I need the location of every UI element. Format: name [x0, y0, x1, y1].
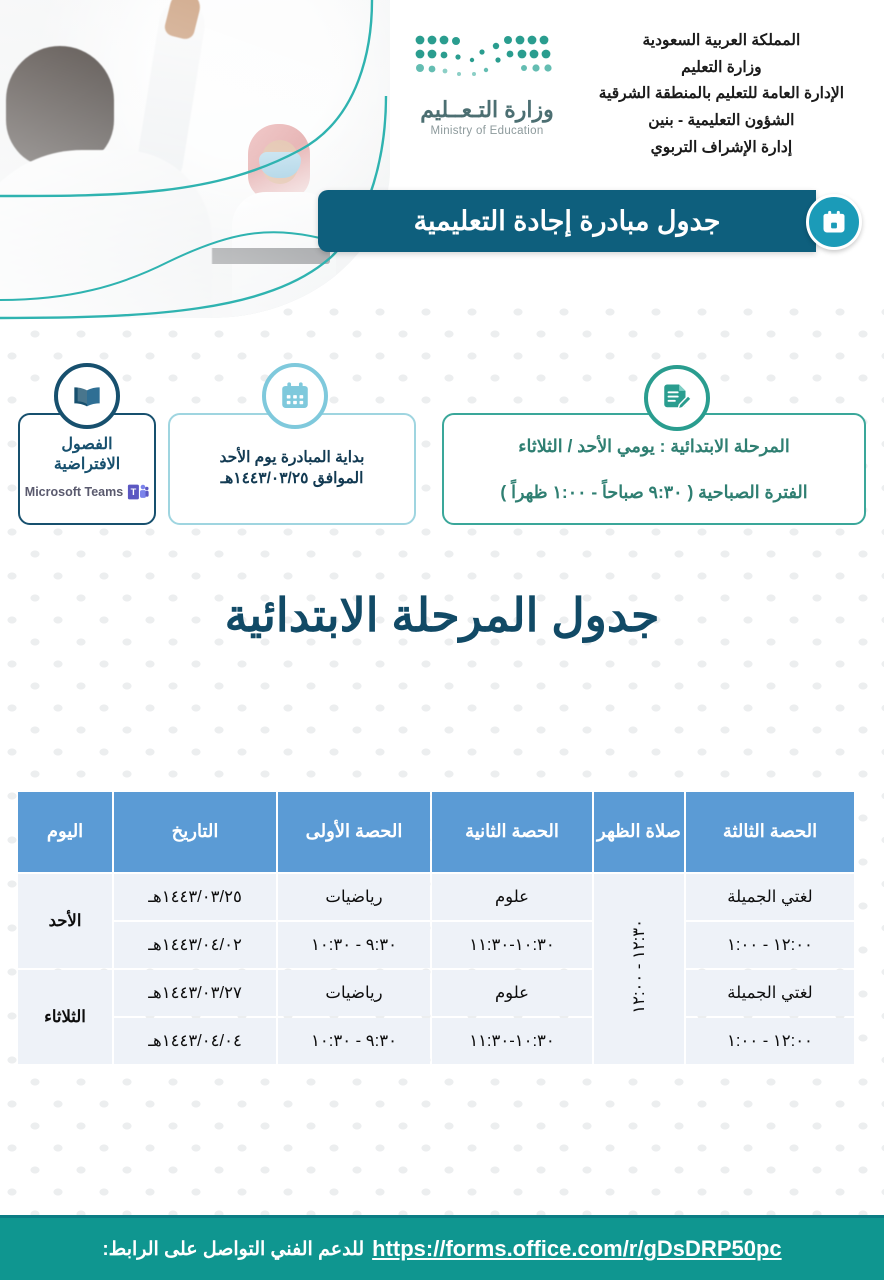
cell-period3-subject: لغتي الجميلة [686, 970, 854, 1016]
card-virtual-classes: الفصول الافتراضية T Microsoft Teams [18, 413, 156, 525]
virtual-classes-line-1: الفصول [61, 435, 112, 455]
ministry-line-5: إدارة الإشراف التربوي [599, 135, 844, 162]
cell-day: الثلاثاء [18, 970, 112, 1064]
cell-date: ١٤٤٣/٠٤/٠٤هـ [114, 1018, 276, 1064]
microsoft-teams-logo: T Microsoft Teams [25, 481, 149, 503]
document-pencil-glyph [660, 381, 694, 415]
start-date-line-1: بداية المبادرة يوم الأحد [220, 448, 365, 469]
info-cards: المرحلة الابتدائية : يومي الأحد / الثلاث… [0, 366, 884, 556]
table-row: لغتي الجميلة ١٢:٣٠ - ١٢:٠٠ علوم رياضيات … [18, 874, 854, 920]
cell-period1-time: ٩:٣٠ - ١٠:٣٠ [278, 1018, 430, 1064]
ministry-line-3: الإدارة العامة للتعليم بالمنطقة الشرقية [599, 81, 844, 108]
table-row: لغتي الجميلة علوم رياضيات ١٤٤٣/٠٣/٢٧هـ ا… [18, 970, 854, 1016]
stage-days: المرحلة الابتدائية : يومي الأحد / الثلاث… [518, 436, 789, 456]
cell-period3-time: ١٢:٠٠ - ١:٠٠ [686, 1018, 854, 1064]
ministry-dots-emblem [412, 30, 562, 88]
cell-period2-time: ١٠:٣٠-١١:٣٠ [432, 922, 592, 968]
table-header-row: الحصة الثالثة صلاة الظهر الحصة الثانية ا… [18, 792, 854, 872]
cell-date: ١٤٤٣/٠٣/٢٧هـ [114, 970, 276, 1016]
cell-period1-subject: رياضيات [278, 874, 430, 920]
cell-prayer-time: ١٢:٣٠ - ١٢:٠٠ [594, 874, 684, 1064]
calendar-icon [820, 208, 848, 236]
document-pencil-icon [644, 365, 710, 431]
schedule-table: الحصة الثالثة صلاة الظهر الحصة الثانية ا… [16, 790, 856, 1066]
support-link[interactable]: https://forms.office.com/r/gDsDRP50pc [372, 1236, 782, 1262]
poster-page: المملكة العربية السعودية وزارة التعليم ا… [0, 0, 884, 1280]
card-elementary-stage: المرحلة الابتدائية : يومي الأحد / الثلاث… [442, 413, 866, 525]
stage-period: الفترة الصباحية ( ٩:٣٠ صباحاً - ١:٠٠ ظهر… [500, 482, 807, 502]
header-date: التاريخ [114, 792, 276, 872]
header-period1: الحصة الأولى [278, 792, 430, 872]
cell-period2-subject: علوم [432, 970, 592, 1016]
header-day: اليوم [18, 792, 112, 872]
ministry-line-2: وزارة التعليم [599, 55, 844, 82]
page-title: جدول المرحلة الابتدائية [0, 588, 884, 642]
teams-icon: T [127, 481, 149, 503]
schedule-table-wrapper: الحصة الثالثة صلاة الظهر الحصة الثانية ا… [28, 790, 856, 1066]
table-row: ١٢:٠٠ - ١:٠٠ ١٠:٣٠-١١:٣٠ ٩:٣٠ - ١٠:٣٠ ١٤… [18, 1018, 854, 1064]
header-prayer: صلاة الظهر [594, 792, 684, 872]
start-date-line-2: الموافق ١٤٤٣/٠٣/٢٥هـ [221, 469, 364, 490]
ministry-logo-arabic: وزارة التـعــليم [382, 99, 592, 121]
cell-date: ١٤٤٣/٠٤/٠٢هـ [114, 922, 276, 968]
calendar-icon [262, 363, 328, 429]
open-book-glyph [71, 380, 103, 412]
ribbon-title: جدول مبادرة إجادة التعليمية [414, 206, 721, 237]
cell-day: الأحد [18, 874, 112, 968]
open-book-icon [54, 363, 120, 429]
teams-logo-text: Microsoft Teams [25, 485, 123, 499]
support-label: للدعم الفني التواصل على الرابط: [102, 1238, 364, 1261]
ministry-line-4: الشؤون التعليمية - بنين [599, 108, 844, 135]
prayer-time-text: ١٢:٣٠ - ١٢:٠٠ [629, 919, 649, 1014]
title-ribbon: جدول مبادرة إجادة التعليمية [318, 190, 816, 252]
cell-period3-time: ١٢:٠٠ - ١:٠٠ [686, 922, 854, 968]
virtual-classes-line-2: الافتراضية [54, 455, 120, 475]
cell-period2-subject: علوم [432, 874, 592, 920]
cell-period2-time: ١٠:٣٠-١١:٣٠ [432, 1018, 592, 1064]
cell-period3-subject: لغتي الجميلة [686, 874, 854, 920]
table-row: ١٢:٠٠ - ١:٠٠ ١٠:٣٠-١١:٣٠ ٩:٣٠ - ١٠:٣٠ ١٤… [18, 922, 854, 968]
cell-period1-time: ٩:٣٠ - ١٠:٣٠ [278, 922, 430, 968]
cell-date: ١٤٤٣/٠٣/٢٥هـ [114, 874, 276, 920]
calendar-glyph [278, 379, 312, 413]
cell-period1-subject: رياضيات [278, 970, 430, 1016]
footer-bar: https://forms.office.com/r/gDsDRP50pc لل… [0, 1218, 884, 1280]
ministry-header-text: المملكة العربية السعودية وزارة التعليم ا… [599, 28, 844, 161]
ministry-logo-english: Ministry of Education [382, 125, 592, 137]
ribbon-badge [806, 194, 862, 250]
header-period2: الحصة الثانية [432, 792, 592, 872]
ministry-line-1: المملكة العربية السعودية [599, 28, 844, 55]
ministry-logo: وزارة التـعــليم Ministry of Education [382, 30, 592, 137]
header-period3: الحصة الثالثة [686, 792, 854, 872]
card-start-date: بداية المبادرة يوم الأحد الموافق ١٤٤٣/٠٣… [168, 413, 416, 525]
svg-text:T: T [131, 487, 137, 497]
